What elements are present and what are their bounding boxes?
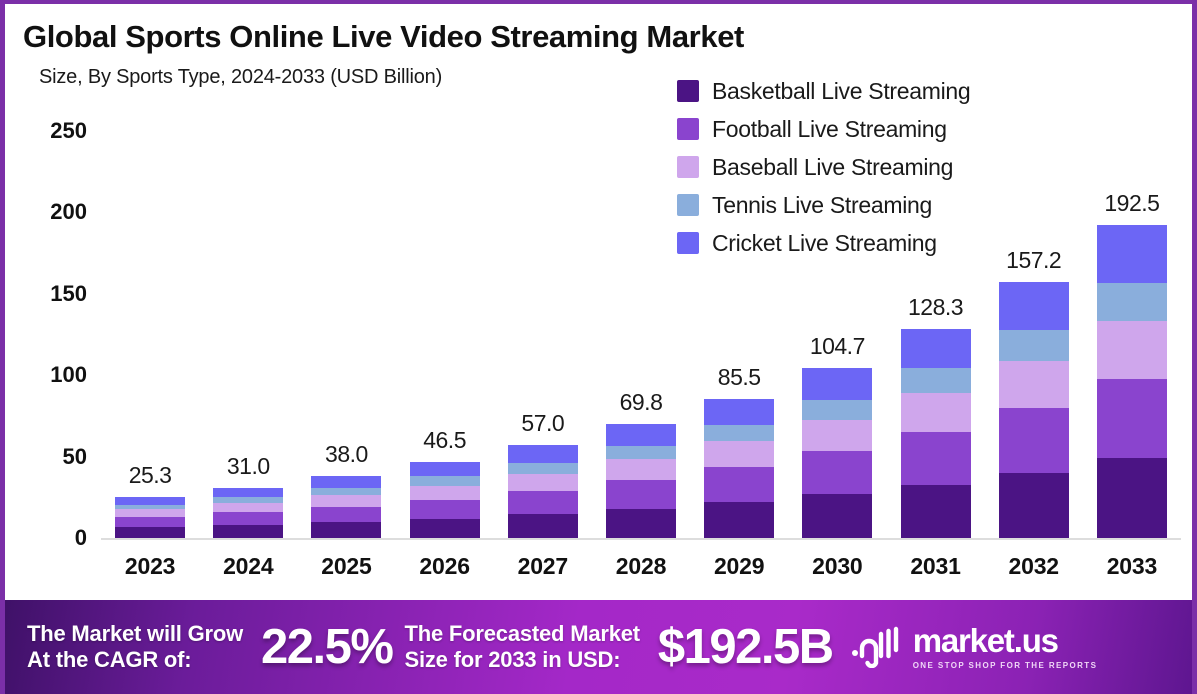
cagr-value: 22.5% <box>261 619 392 675</box>
x-axis-tick-label: 2026 <box>419 553 469 580</box>
x-axis-tick-label: 2023 <box>125 553 175 580</box>
bar-segment[interactable] <box>901 368 971 393</box>
cagr-label-line2: At the CAGR of: <box>27 647 243 673</box>
bar-total-label: 46.5 <box>423 427 466 454</box>
x-axis-tick-label: 2030 <box>812 553 862 580</box>
bar-segment[interactable] <box>508 445 578 462</box>
bar-segment[interactable] <box>901 393 971 431</box>
stacked-bar[interactable] <box>311 476 381 538</box>
bar-group[interactable]: 38.02025 <box>297 4 395 604</box>
bar-segment[interactable] <box>311 495 381 506</box>
bar-segment[interactable] <box>508 491 578 514</box>
x-axis-tick-label: 2027 <box>518 553 568 580</box>
bar-segment[interactable] <box>1097 283 1167 321</box>
y-axis-tick-label: 100 <box>50 362 87 388</box>
bar-group[interactable]: 128.32031 <box>886 4 984 604</box>
y-axis-tick-label: 250 <box>50 118 87 144</box>
bar-segment[interactable] <box>704 467 774 502</box>
stacked-bar[interactable] <box>1097 225 1167 538</box>
bar-segment[interactable] <box>213 488 283 498</box>
x-axis-tick-label: 2025 <box>321 553 371 580</box>
cagr-label-line1: The Market will Grow <box>27 621 243 647</box>
stacked-bar[interactable] <box>901 329 971 538</box>
stacked-bar[interactable] <box>704 399 774 538</box>
bar-segment[interactable] <box>999 282 1069 330</box>
bar-segment[interactable] <box>213 525 283 538</box>
bar-segment[interactable] <box>999 408 1069 473</box>
y-axis: 050100150200250 <box>5 4 101 604</box>
x-axis-tick-label: 2032 <box>1009 553 1059 580</box>
forecast-value: $192.5B <box>658 619 833 675</box>
bar-segment[interactable] <box>901 329 971 368</box>
bar-segment[interactable] <box>410 500 480 519</box>
y-axis-tick-label: 150 <box>50 281 87 307</box>
bar-total-label: 57.0 <box>521 410 564 437</box>
bar-total-label: 25.3 <box>129 462 172 489</box>
bar-segment[interactable] <box>115 497 185 505</box>
forecast-label-line1: The Forecasted Market <box>404 621 639 647</box>
cagr-label: The Market will Grow At the CAGR of: <box>27 621 243 673</box>
stacked-bar[interactable] <box>410 462 480 538</box>
stacked-bar[interactable] <box>508 445 578 538</box>
bar-group[interactable]: 192.52033 <box>1083 4 1181 604</box>
market-us-logomark-icon <box>851 626 903 668</box>
x-axis-tick-label: 2024 <box>223 553 273 580</box>
bar-segment[interactable] <box>1097 225 1167 284</box>
bar-series-container: 25.3202331.0202438.0202546.5202657.02027… <box>101 4 1181 604</box>
chart-plot-area: 050100150200250 25.3202331.0202438.02025… <box>5 4 1197 604</box>
bar-segment[interactable] <box>115 509 185 517</box>
bar-segment[interactable] <box>802 400 872 421</box>
bar-segment[interactable] <box>508 463 578 474</box>
bar-segment[interactable] <box>508 514 578 538</box>
stacked-bar[interactable] <box>999 282 1069 538</box>
bar-segment[interactable] <box>802 420 872 451</box>
market-us-logo[interactable]: market.us ONE STOP SHOP FOR THE REPORTS <box>851 624 1098 670</box>
bar-group[interactable]: 85.52029 <box>690 4 788 604</box>
bar-segment[interactable] <box>1097 379 1167 458</box>
bar-segment[interactable] <box>802 368 872 400</box>
bar-segment[interactable] <box>311 507 381 523</box>
bar-segment[interactable] <box>410 519 480 538</box>
x-axis-tick-label: 2029 <box>714 553 764 580</box>
bar-segment[interactable] <box>606 446 676 460</box>
bar-segment[interactable] <box>1097 321 1167 379</box>
bar-segment[interactable] <box>704 425 774 442</box>
bar-total-label: 85.5 <box>718 364 761 391</box>
summary-banner: The Market will Grow At the CAGR of: 22.… <box>5 600 1192 694</box>
bar-total-label: 38.0 <box>325 441 368 468</box>
y-axis-tick-label: 50 <box>63 444 87 470</box>
stacked-bar[interactable] <box>606 424 676 538</box>
stacked-bar[interactable] <box>802 368 872 538</box>
y-axis-tick-label: 200 <box>50 199 87 225</box>
bar-total-label: 192.5 <box>1104 190 1159 217</box>
bar-segment[interactable] <box>311 476 381 488</box>
bar-group[interactable]: 104.72030 <box>788 4 886 604</box>
bar-segment[interactable] <box>410 462 480 476</box>
y-axis-tick-label: 0 <box>75 525 87 551</box>
bar-segment[interactable] <box>704 502 774 538</box>
bar-group[interactable]: 157.22032 <box>985 4 1083 604</box>
bar-segment[interactable] <box>508 474 578 491</box>
bar-segment[interactable] <box>606 459 676 480</box>
bar-total-label: 31.0 <box>227 453 270 480</box>
bar-total-label: 157.2 <box>1006 247 1061 274</box>
bar-segment[interactable] <box>999 361 1069 408</box>
bar-segment[interactable] <box>1097 458 1167 538</box>
bar-segment[interactable] <box>606 509 676 538</box>
bar-segment[interactable] <box>704 441 774 467</box>
bar-segment[interactable] <box>410 486 480 500</box>
x-axis-tick-label: 2033 <box>1107 553 1157 580</box>
bar-segment[interactable] <box>606 424 676 445</box>
bar-segment[interactable] <box>999 330 1069 361</box>
bar-group[interactable]: 25.32023 <box>101 4 199 604</box>
bar-group[interactable]: 69.82028 <box>592 4 690 604</box>
logo-wordmark: market.us <box>913 624 1098 657</box>
bar-segment[interactable] <box>901 432 971 485</box>
bar-segment[interactable] <box>802 451 872 494</box>
stacked-bar[interactable] <box>213 488 283 538</box>
bar-segment[interactable] <box>115 527 185 538</box>
bar-segment[interactable] <box>311 488 381 495</box>
bar-segment[interactable] <box>213 503 283 512</box>
bar-segment[interactable] <box>213 512 283 525</box>
bar-segment[interactable] <box>606 480 676 509</box>
bar-segment[interactable] <box>802 494 872 538</box>
bar-total-label: 104.7 <box>810 333 865 360</box>
x-axis-tick-label: 2031 <box>910 553 960 580</box>
bar-segment[interactable] <box>410 476 480 485</box>
infographic-root: Global Sports Online Live Video Streamin… <box>0 0 1197 694</box>
stacked-bar[interactable] <box>115 497 185 538</box>
forecast-label-line2: Size for 2033 in USD: <box>404 647 639 673</box>
bar-segment[interactable] <box>115 517 185 527</box>
bar-segment[interactable] <box>999 473 1069 538</box>
bar-total-label: 69.8 <box>620 389 663 416</box>
bar-group[interactable]: 31.02024 <box>199 4 297 604</box>
x-axis-tick-label: 2028 <box>616 553 666 580</box>
forecast-label: The Forecasted Market Size for 2033 in U… <box>404 621 639 673</box>
bar-group[interactable]: 57.02027 <box>494 4 592 604</box>
bar-segment[interactable] <box>311 522 381 538</box>
logo-text: market.us ONE STOP SHOP FOR THE REPORTS <box>913 624 1098 670</box>
bar-segment[interactable] <box>901 485 971 538</box>
bar-total-label: 128.3 <box>908 294 963 321</box>
bar-group[interactable]: 46.52026 <box>396 4 494 604</box>
logo-tagline: ONE STOP SHOP FOR THE REPORTS <box>913 661 1098 670</box>
bar-segment[interactable] <box>704 399 774 425</box>
